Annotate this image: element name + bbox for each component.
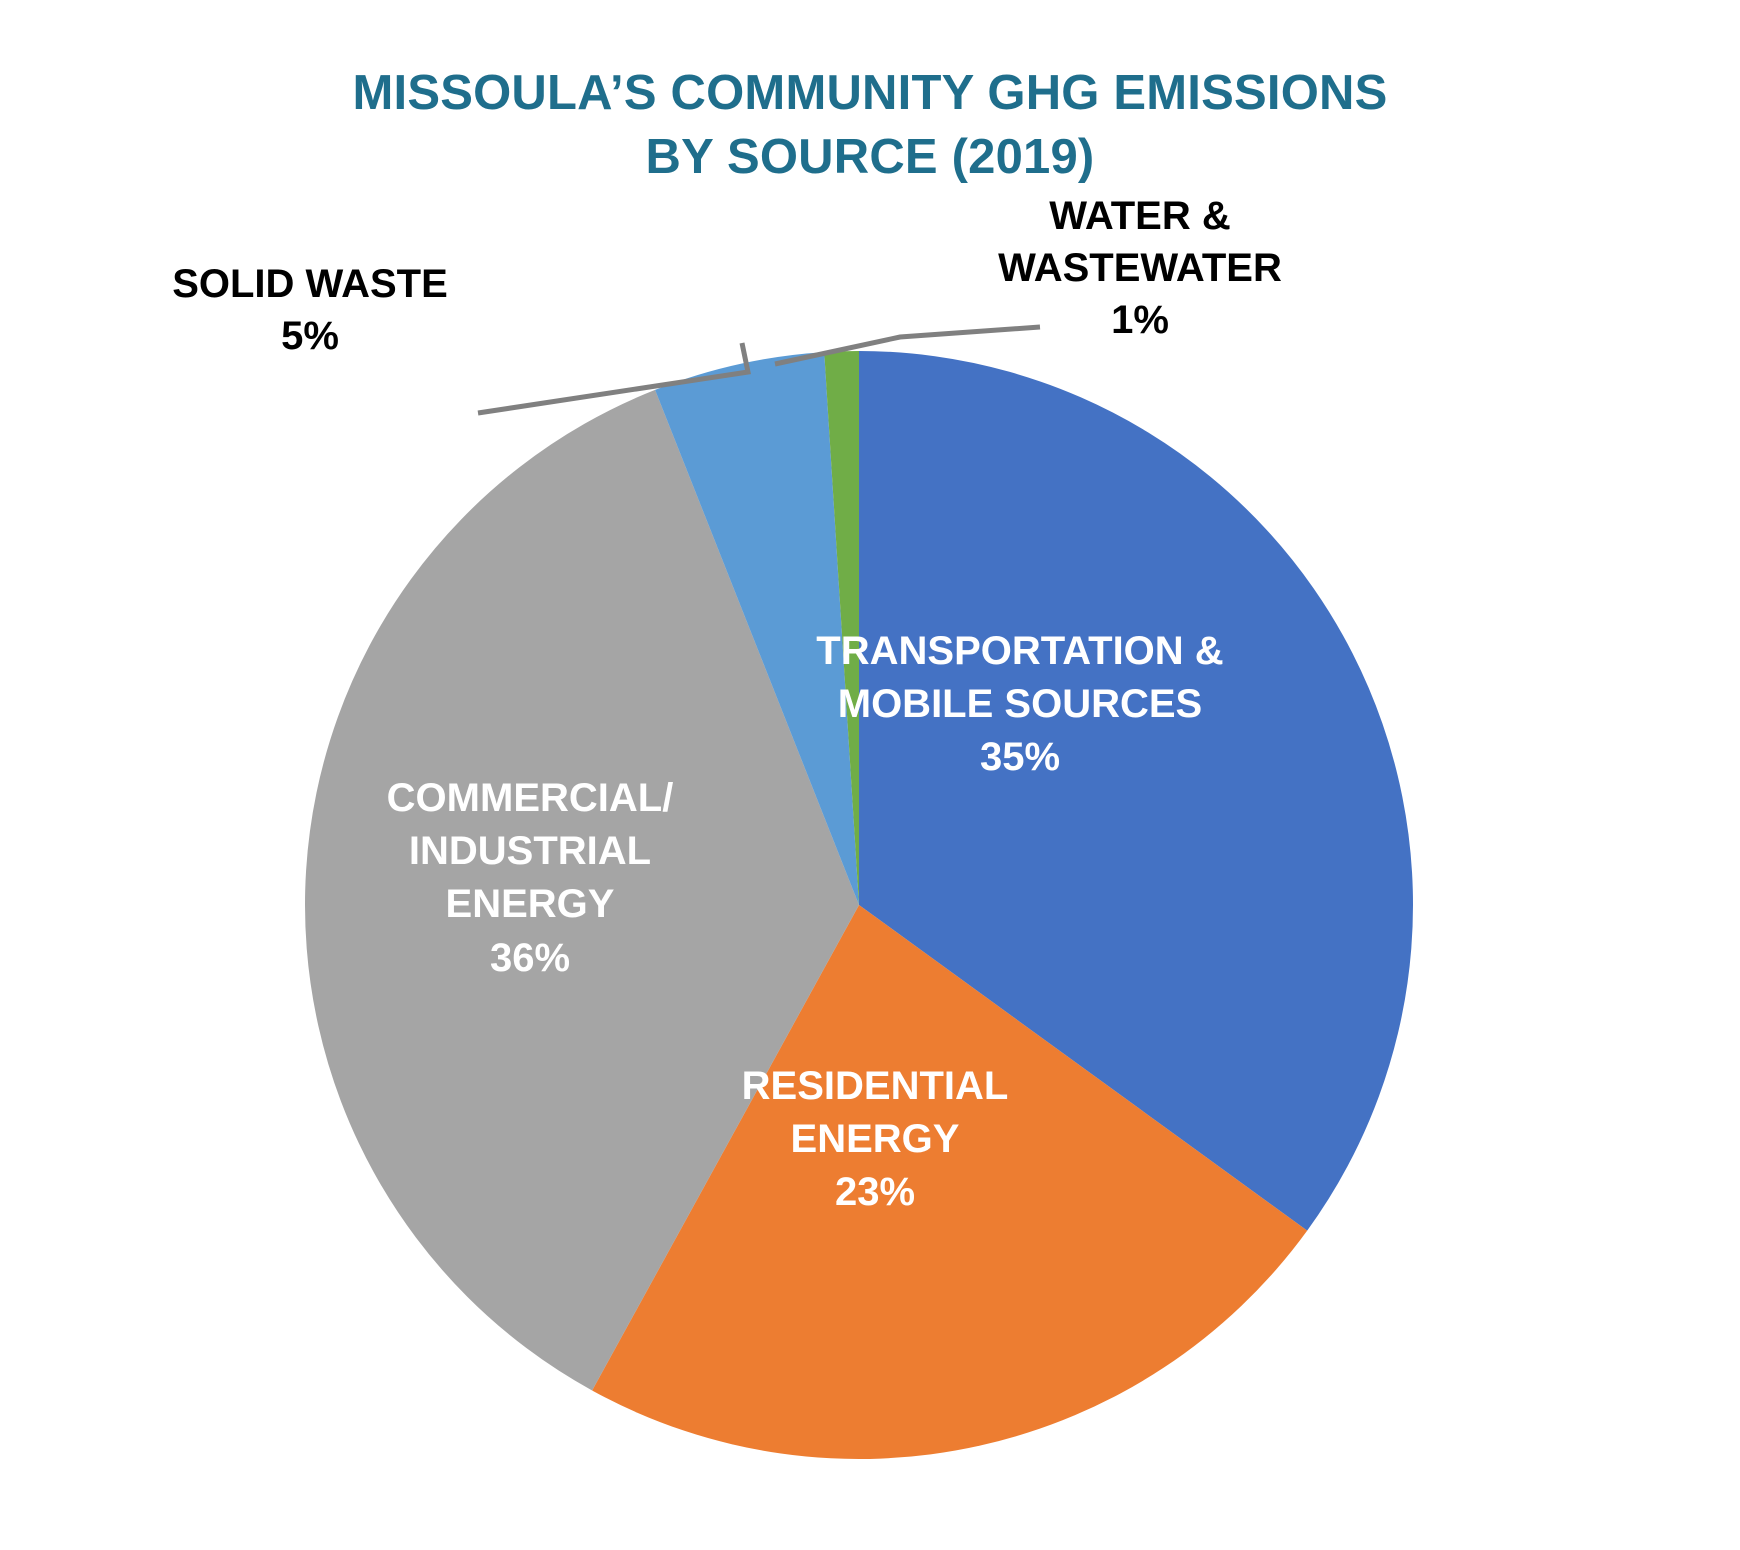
slice-label-transportation: TRANSPORTATION & MOBILE SOURCES 35% <box>790 625 1250 785</box>
slice-label-water-wastewater-line-2: WASTEWATER <box>975 242 1305 294</box>
slice-label-residential-line-2: ENERGY <box>700 1113 1050 1166</box>
slice-label-commercial-line-1: COMMERCIAL/ <box>335 772 725 825</box>
slice-label-commercial-industrial: COMMERCIAL/ INDUSTRIAL ENERGY 36% <box>335 772 725 985</box>
slice-label-solid-waste-percent: 5% <box>120 310 500 362</box>
slice-label-solid-waste: SOLID WASTE 5% <box>120 258 500 362</box>
slice-label-commercial-percent: 36% <box>335 932 725 985</box>
slice-label-water-wastewater-percent: 1% <box>975 294 1305 346</box>
slice-label-transportation-percent: 35% <box>790 731 1250 784</box>
pie-chart-figure: MISSOULA’S COMMUNITY GHG EMISSIONS BY SO… <box>0 0 1740 1550</box>
slice-label-commercial-line-3: ENERGY <box>335 878 725 931</box>
slice-label-residential-percent: 23% <box>700 1166 1050 1219</box>
slice-label-solid-waste-name: SOLID WASTE <box>172 262 448 306</box>
slice-label-residential-line-1: RESIDENTIAL <box>700 1060 1050 1113</box>
slice-label-water-wastewater: WATER & WASTEWATER 1% <box>975 190 1305 346</box>
slice-label-water-wastewater-line-1: WATER & <box>1049 194 1230 238</box>
slice-label-transportation-line-1: TRANSPORTATION & <box>790 625 1250 678</box>
slice-label-transportation-line-2: MOBILE SOURCES <box>790 678 1250 731</box>
slice-label-residential-energy: RESIDENTIAL ENERGY 23% <box>700 1060 1050 1220</box>
slice-label-commercial-line-2: INDUSTRIAL <box>335 825 725 878</box>
